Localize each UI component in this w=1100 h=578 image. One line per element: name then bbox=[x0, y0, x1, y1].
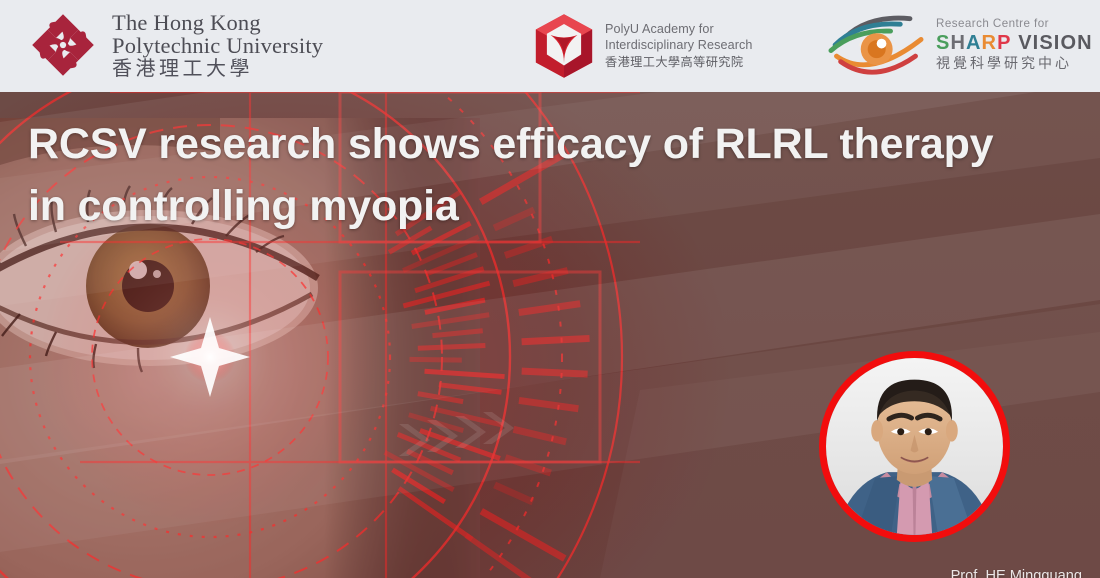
academy-line1: PolyU Academy for bbox=[605, 22, 753, 38]
polyu-knot-icon bbox=[26, 10, 100, 80]
page-title: RCSV research shows efficacy of RLRL the… bbox=[28, 114, 1092, 238]
academy-line2: Interdisciplinary Research bbox=[605, 38, 753, 54]
polyu-title-line1: The Hong Kong bbox=[112, 11, 323, 34]
rcsv-title: SHARP VISION bbox=[936, 32, 1093, 56]
rcsv-chinese: 視覺科學研究中心 bbox=[936, 56, 1093, 73]
polyu-title-line2: Polytechnic University bbox=[112, 34, 323, 57]
speaker-caption: Prof. HE Mingguang Director of Research … bbox=[462, 565, 1082, 578]
polyu-title-chinese: 香港理工大學 bbox=[112, 58, 323, 79]
logo-polyu: The Hong Kong Polytechnic University 香港理… bbox=[26, 10, 323, 80]
logo-rcsv: Research Centre for SHARP VISION 視覺科學研究中… bbox=[824, 10, 1093, 80]
banner-page: The Hong Kong Polytechnic University 香港理… bbox=[0, 0, 1100, 578]
caption-name: Prof. HE Mingguang bbox=[462, 565, 1082, 578]
sharp-vision-eye-icon bbox=[824, 10, 928, 80]
logo-bar: The Hong Kong Polytechnic University 香港理… bbox=[0, 0, 1100, 92]
academy-cube-icon bbox=[533, 13, 595, 79]
logo-polyu-academy: PolyU Academy for Interdisciplinary Rese… bbox=[533, 13, 753, 79]
page-title-line2: in controlling myopia bbox=[28, 176, 1092, 238]
portrait-photo bbox=[826, 358, 1003, 535]
avatar bbox=[819, 351, 1010, 542]
avatar-ring bbox=[819, 351, 1010, 542]
rcsv-subtitle: Research Centre for bbox=[936, 17, 1093, 31]
page-title-line1: RCSV research shows efficacy of RLRL the… bbox=[28, 120, 993, 168]
hero-banner: RCSV research shows efficacy of RLRL the… bbox=[0, 92, 1100, 578]
academy-chinese: 香港理工大學高等研究院 bbox=[605, 55, 753, 70]
